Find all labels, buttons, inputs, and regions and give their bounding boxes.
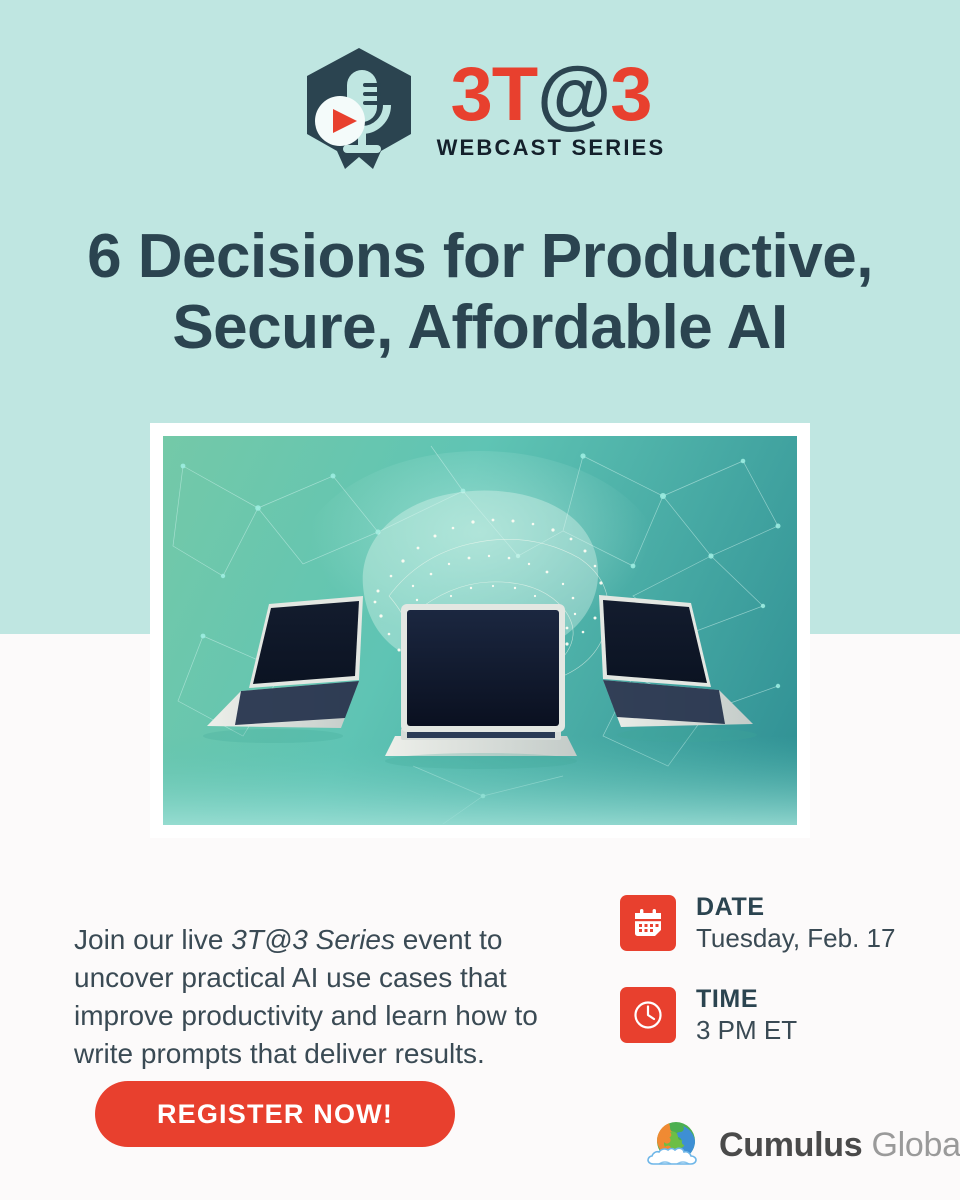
brand-name-light: Global <box>862 1126 960 1164</box>
calendar-icon <box>620 895 676 951</box>
brand-logo-lockup: 3T@3 WEBCAST SERIES <box>0 44 960 174</box>
wordmark-at: @ <box>537 52 610 137</box>
date-label: DATE <box>696 893 895 923</box>
microphone-play-hexagon-icon <box>295 45 423 173</box>
page-title: 6 Decisions for Productive, Secure, Affo… <box>30 222 930 363</box>
event-detail-time-text: TIME 3 PM ET <box>696 985 797 1045</box>
event-detail-date: DATE Tuesday, Feb. 17 <box>620 893 940 953</box>
cumulus-globe-cloud-icon <box>645 1118 707 1172</box>
register-now-button[interactable]: REGISTER NOW! <box>95 1081 455 1147</box>
page-title-line-2: Secure, Affordable AI <box>30 293 930 364</box>
cumulus-global-wordmark: Cumulus Global <box>719 1126 960 1165</box>
brand-wordmark: 3T@3 <box>450 59 651 131</box>
event-detail-time: TIME 3 PM ET <box>620 985 940 1045</box>
cumulus-global-logo: Cumulus Global <box>645 1118 960 1172</box>
hero-brain-laptops-image <box>163 436 797 825</box>
time-value: 3 PM ET <box>696 1015 797 1046</box>
hero-image-frame <box>150 423 810 838</box>
event-details-list: DATE Tuesday, Feb. 17 TIME 3 PM ET <box>620 893 940 1077</box>
event-description: Join our live 3T@3 Series event to uncov… <box>74 921 544 1073</box>
brand-wordmark-group: 3T@3 WEBCAST SERIES <box>437 59 666 158</box>
brand-subtitle: WEBCAST SERIES <box>437 137 666 159</box>
clock-icon <box>620 987 676 1043</box>
page-title-line-1: 6 Decisions for Productive, <box>30 222 930 293</box>
wordmark-suffix: 3 <box>610 52 651 137</box>
description-emphasis: 3T@3 Series <box>231 924 395 955</box>
event-detail-date-text: DATE Tuesday, Feb. 17 <box>696 893 895 953</box>
wordmark-prefix: 3T <box>450 52 537 137</box>
description-text-before: Join our live <box>74 924 231 955</box>
time-label: TIME <box>696 985 797 1015</box>
brand-name-bold: Cumulus <box>719 1126 862 1164</box>
date-value: Tuesday, Feb. 17 <box>696 923 895 954</box>
